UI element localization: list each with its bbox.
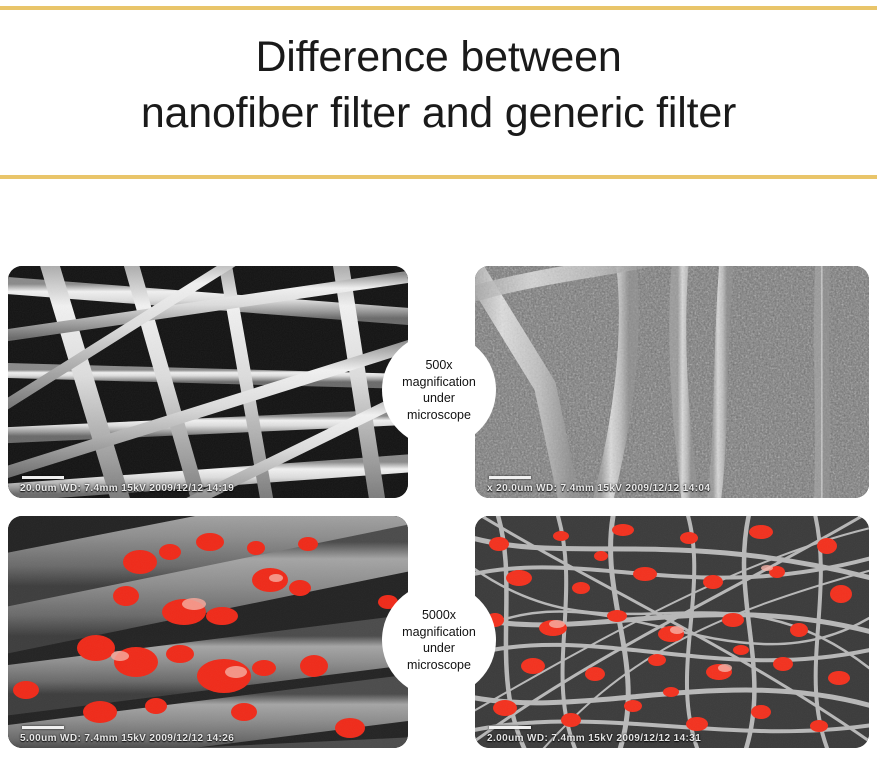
top-accent-rule [0,6,877,10]
sem-image-nanofiber-5000x [475,516,869,748]
title-line-2: nanofiber filter and generic filter [0,86,877,142]
panel-nanofiber-5000x: 2.00um WD: 7.4mm 15kV 2009/12/12 14:31 [475,516,869,748]
badge-5000x-magnification: 5000x [422,607,456,624]
badge-5000x-line3: under [423,640,455,657]
badge-500x: 500x magnification under microscope [382,333,496,447]
badge-500x-line4: microscope [407,407,471,424]
page-title: Difference between nanofiber filter and … [0,30,877,142]
page-root: Difference between nanofiber filter and … [0,0,877,767]
badge-500x-magnification: 500x [425,357,452,374]
title-line-1: Difference between [0,30,877,86]
panel-generic-500x: 20.0um WD: 7.4mm 15kV 2009/12/12 14:19 [8,266,408,498]
badge-5000x-line4: microscope [407,657,471,674]
sem-image-generic-5000x [8,516,408,748]
badge-5000x: 5000x magnification under microscope [382,583,496,697]
panel-generic-5000x: 5.00um WD: 7.4mm 15kV 2009/12/12 14:26 [8,516,408,748]
sem-image-nanofiber-500x [475,266,869,498]
micrograph-caption: x 20.0um WD: 7.4mm 15kV 2009/12/12 14:04 [475,478,869,498]
micrograph-caption: 5.00um WD: 7.4mm 15kV 2009/12/12 14:26 [8,728,408,748]
badge-500x-line3: under [423,390,455,407]
badge-5000x-line2: magnification [402,624,476,641]
badge-500x-line2: magnification [402,374,476,391]
sem-image-generic-500x [8,266,408,498]
micrograph-caption: 2.00um WD: 7.4mm 15kV 2009/12/12 14:31 [475,728,869,748]
panel-nanofiber-500x: x 20.0um WD: 7.4mm 15kV 2009/12/12 14:04 [475,266,869,498]
title-underline-rule [0,175,877,179]
micrograph-caption: 20.0um WD: 7.4mm 15kV 2009/12/12 14:19 [8,478,408,498]
